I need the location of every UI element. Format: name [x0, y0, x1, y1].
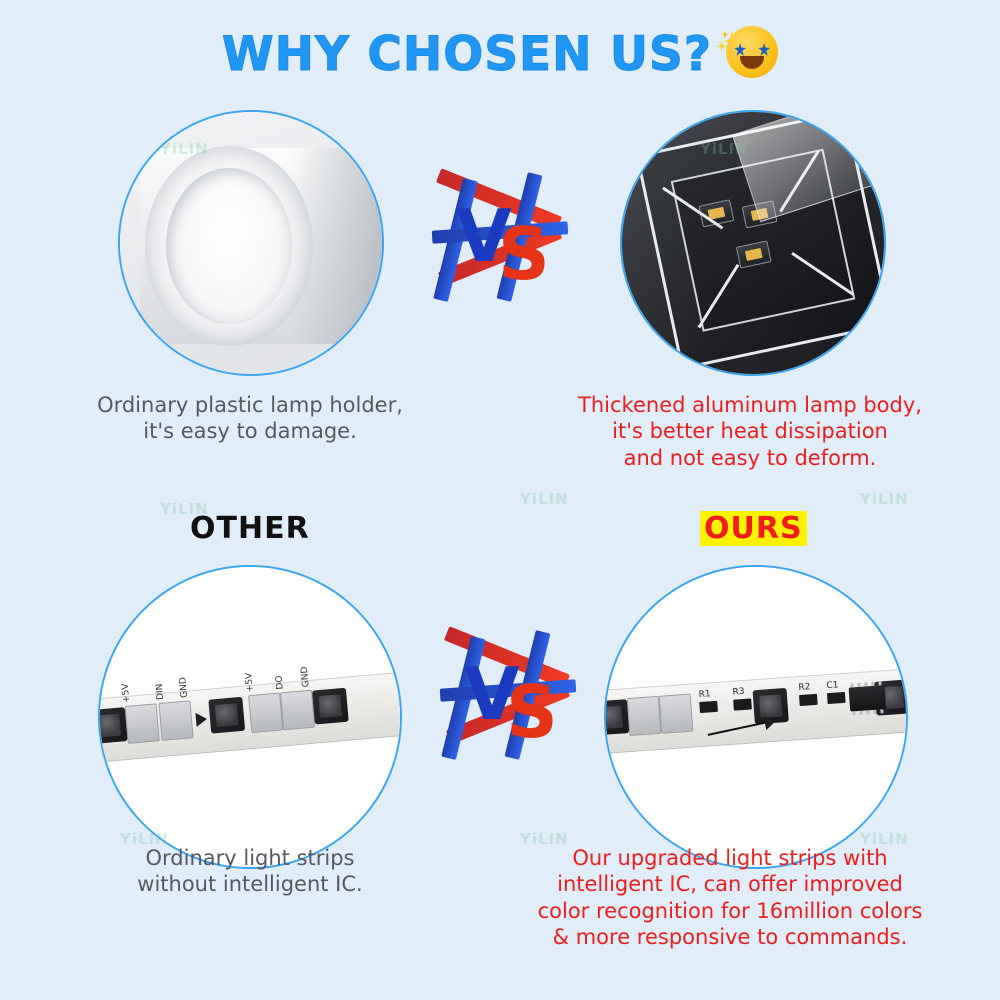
- vs-badge-top: V S: [430, 170, 580, 310]
- tube-bore: [166, 168, 292, 324]
- alu-chamfer-line: [698, 264, 740, 328]
- pcb-label: GND: [178, 677, 190, 698]
- caption-ordinary-strip: Ordinary light strips without intelligen…: [40, 845, 460, 898]
- caption-line: Our upgraded light strips with: [470, 845, 990, 871]
- image-ordinary-plastic-tube: [118, 110, 384, 376]
- pcb-label: R1: [698, 689, 711, 700]
- caption-line: & more responsive to commands.: [470, 924, 990, 950]
- pcb-label: C1: [826, 680, 839, 691]
- vs-badge-bottom: V S: [438, 628, 588, 768]
- smd-resistor-r3: R3: [733, 698, 752, 710]
- solder-pad: [627, 696, 662, 736]
- pcb-label: DO: [275, 675, 286, 690]
- watermark: YiLIN: [520, 490, 569, 508]
- emoji-mouth-icon: [740, 56, 764, 69]
- solder-pad: [125, 703, 160, 744]
- page-title-row: WHY CHOSEN US? ✨: [0, 24, 1000, 84]
- caption-aluminum-body: Thickened aluminum lamp body, it's bette…: [505, 392, 995, 471]
- solder-pad: [659, 694, 694, 734]
- image-thickened-aluminum-profile: [620, 110, 886, 376]
- solder-pad: [248, 692, 283, 733]
- pcb-label: DIN: [155, 683, 166, 700]
- caption-line: Ordinary plastic lamp holder,: [20, 392, 480, 418]
- label-ours: OURS: [700, 511, 807, 546]
- solder-pad: [158, 700, 193, 741]
- emoji-star-eye-right-icon: [758, 43, 770, 56]
- image-upgraded-led-strip: R1 R3 R2 C1: [604, 565, 908, 869]
- caption-ordinary-plastic: Ordinary plastic lamp holder, it's easy …: [20, 392, 480, 445]
- label-other: OTHER: [190, 511, 310, 546]
- alu-led-chip: [736, 240, 772, 268]
- direction-arrow-line: [708, 721, 769, 736]
- caption-line: Ordinary light strips: [40, 845, 460, 871]
- page-title: WHY CHOSEN US?: [222, 27, 712, 82]
- caption-line: without intelligent IC.: [40, 871, 460, 897]
- vs-letter-s: S: [506, 676, 558, 748]
- caption-line: color recognition for 16million colors: [470, 898, 990, 924]
- led-5050: [604, 699, 629, 735]
- caption-upgraded-strip: Our upgraded light strips with intellige…: [470, 845, 990, 950]
- led-5050: [98, 707, 128, 744]
- caption-line: Thickened aluminum lamp body,: [505, 392, 995, 418]
- caption-line: it's easy to damage.: [20, 418, 480, 444]
- caption-line: intelligent IC, can offer improved: [470, 871, 990, 897]
- alu-led-phosphor: [745, 248, 763, 261]
- emoji-star-eye-left-icon: [734, 43, 746, 56]
- image-ordinary-led-strip: +5V DIN GND +5V DO GND: [98, 565, 402, 869]
- star-struck-emoji-icon: ✨: [726, 26, 778, 86]
- pcb-label: +5V: [244, 672, 256, 692]
- pcb-label: +5V: [121, 683, 133, 703]
- caption-line: it's better heat dissipation: [505, 418, 995, 444]
- pcb-label: R2: [798, 682, 811, 693]
- caption-line: and not easy to deform.: [505, 445, 995, 471]
- emoji-face-icon: [726, 26, 778, 78]
- intelligent-ic-chip: [849, 685, 887, 711]
- led-5050: [208, 697, 245, 734]
- vs-letter-s: S: [498, 218, 550, 290]
- solder-pad: [280, 690, 315, 731]
- smd-resistor-r1: R1: [699, 701, 718, 713]
- direction-arrow-icon: [195, 712, 207, 727]
- pcb-label: GND: [300, 666, 312, 687]
- smd-resistor-r2: R2: [799, 694, 818, 706]
- smd-capacitor-c1: C1: [827, 692, 846, 704]
- watermark: YiLIN: [860, 490, 909, 508]
- alu-chamfer-line: [791, 252, 854, 296]
- pcb-label: R3: [732, 687, 745, 698]
- led-5050: [312, 688, 349, 725]
